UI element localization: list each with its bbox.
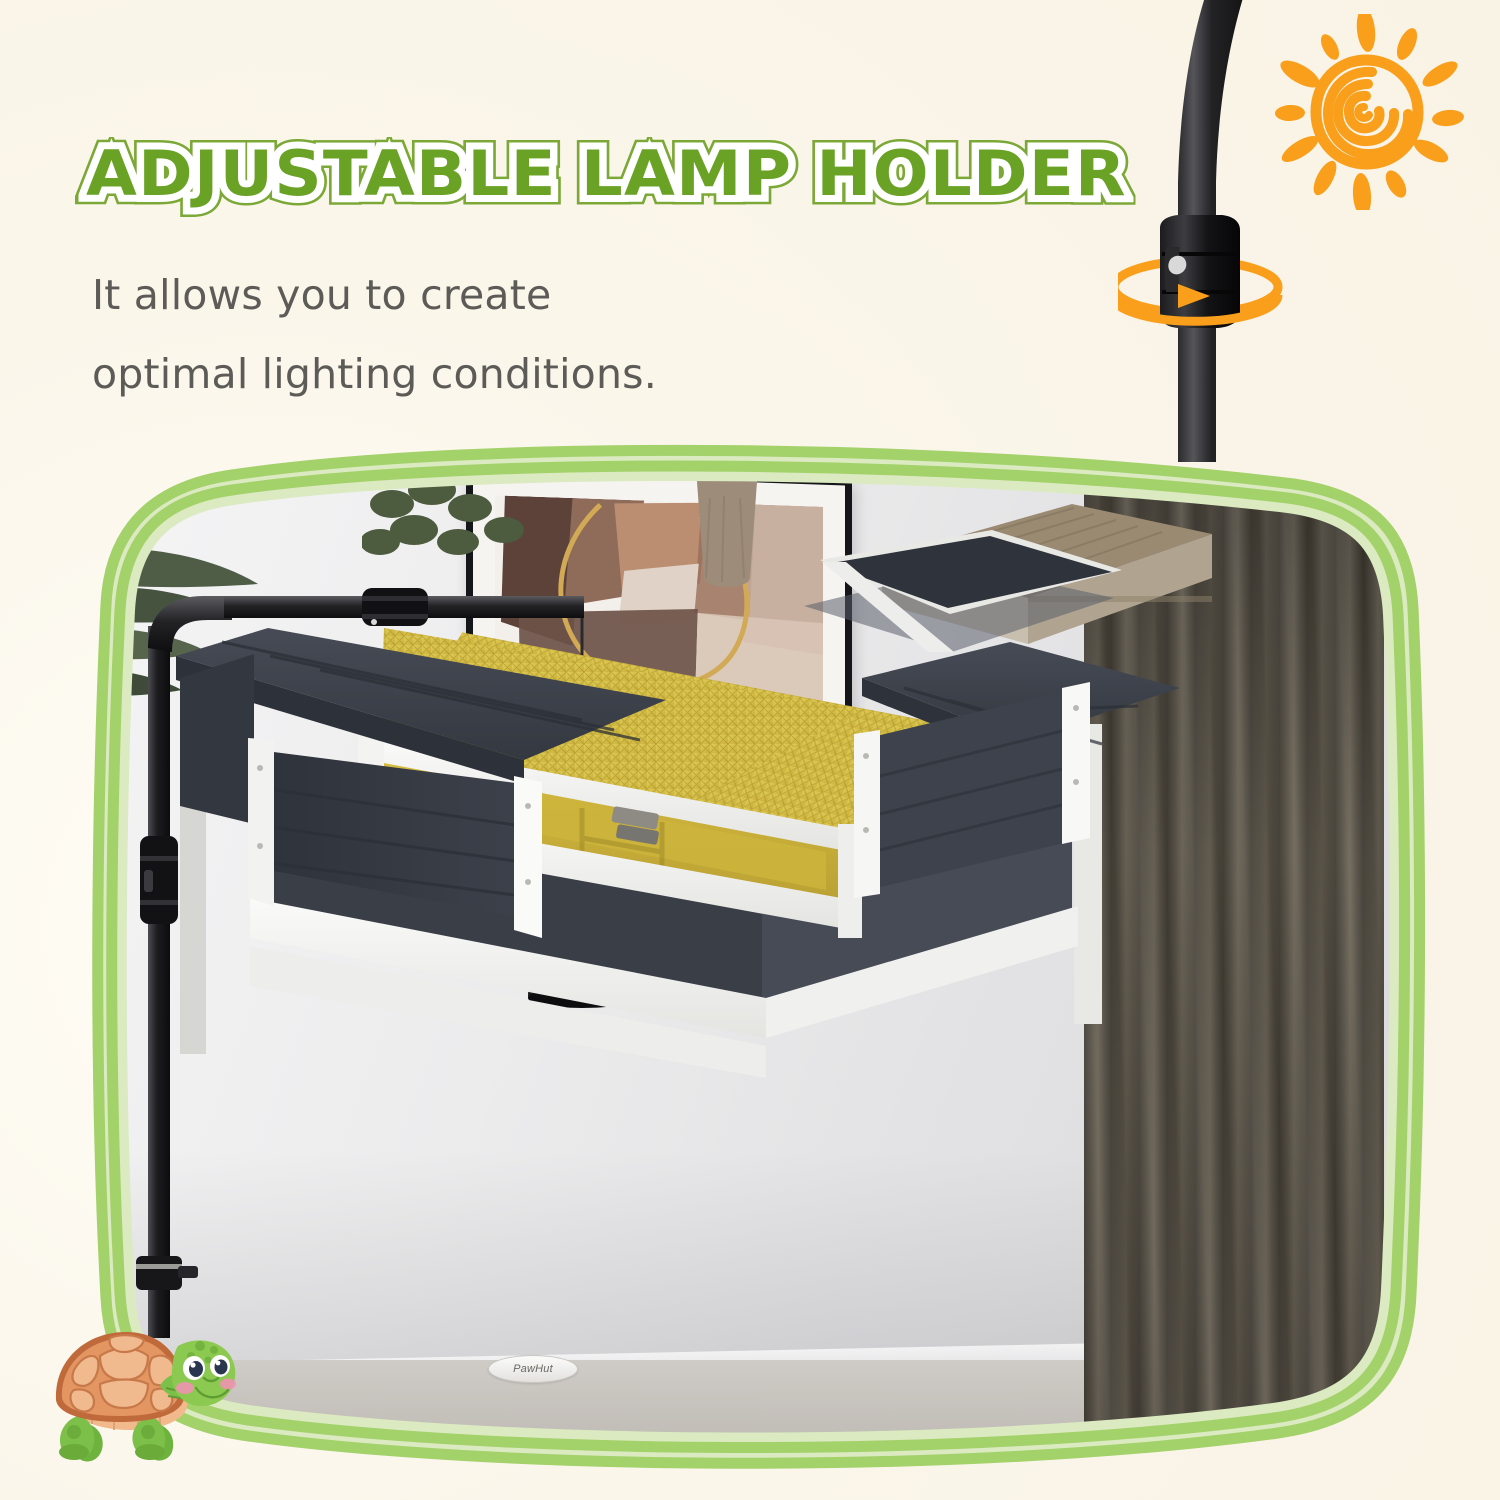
lamp-pole-top [1118, 0, 1308, 462]
arrow-left-icon [62, 444, 158, 488]
product-infographic: ADJUSTABLE LAMP HOLDER ADJUSTABLE LAMP H… [0, 0, 1500, 1500]
photo-frame: PawHut [62, 438, 1452, 1480]
base-clamp-icon [136, 1256, 198, 1290]
horizontal-adjust-arrows [62, 438, 292, 494]
arrow-down-icon [68, 558, 116, 638]
pole-clamp-icon [1160, 215, 1240, 328]
arrow-up-icon [68, 438, 116, 518]
arrow-right-icon [196, 444, 292, 488]
brand-badge: PawHut [488, 1355, 578, 1383]
turtle-mascot-icon [44, 1312, 240, 1480]
page-title: ADJUSTABLE LAMP HOLDER [86, 142, 1127, 205]
vertical-adjust-arrows [62, 438, 122, 638]
page-subtitle: It allows you to create optimal lighting… [92, 256, 657, 413]
page-title-group: ADJUSTABLE LAMP HOLDER ADJUSTABLE LAMP H… [86, 142, 1068, 205]
product-photo [62, 438, 1452, 1480]
tortoise-house [62, 438, 1182, 1078]
